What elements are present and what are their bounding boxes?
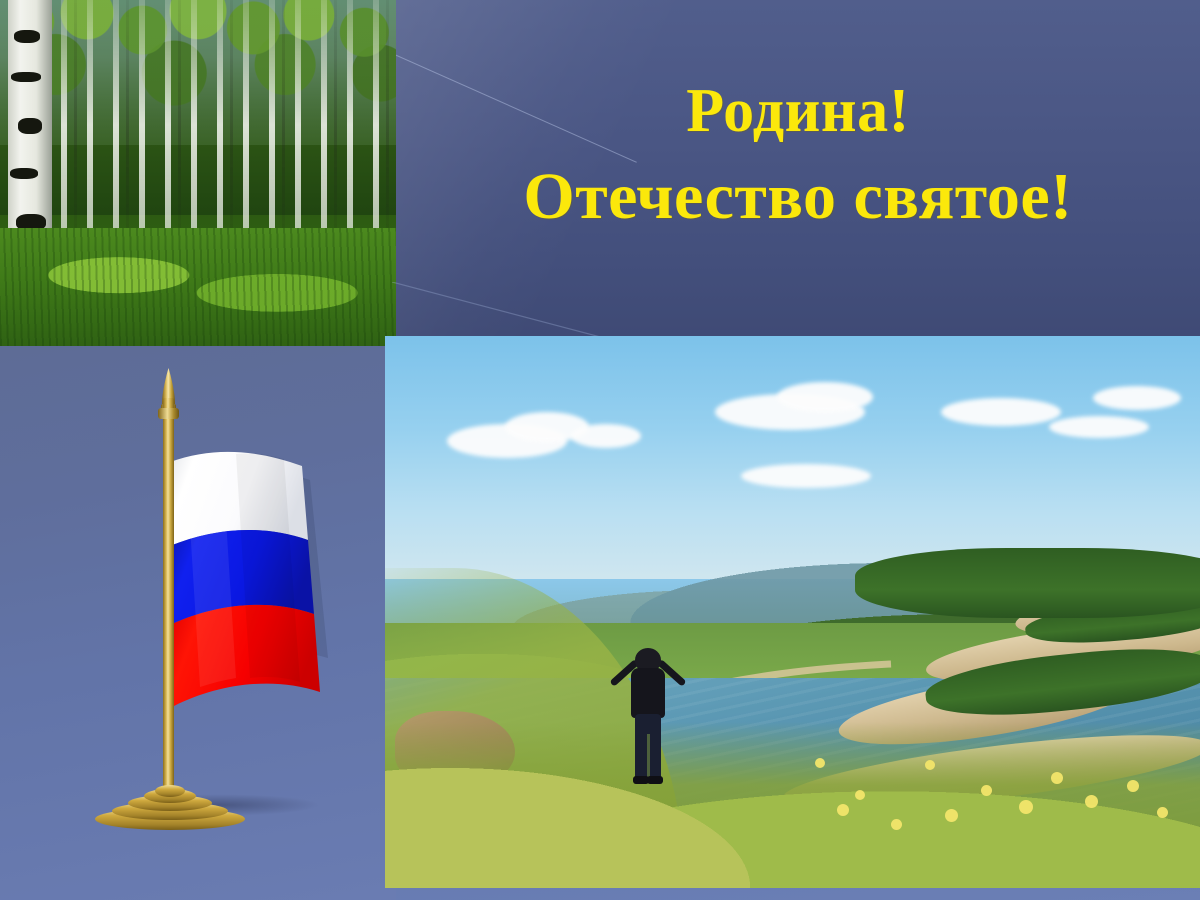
wildflower	[1085, 795, 1098, 808]
person-torso	[631, 668, 665, 718]
wildflower	[855, 790, 865, 800]
person-shoe	[647, 776, 663, 784]
cloud	[941, 398, 1061, 426]
wildflower	[815, 758, 825, 768]
far-bank-forest	[855, 548, 1200, 618]
river-landscape-photo	[385, 336, 1200, 888]
wildflower	[1019, 800, 1033, 814]
wildflower	[1157, 807, 1168, 818]
wildflower	[925, 760, 935, 770]
flagpole-collar	[158, 408, 179, 419]
flag-stand-base	[95, 786, 245, 830]
forest-ground-cover	[0, 228, 396, 346]
cloud	[1049, 416, 1149, 438]
title-line-2: Отечество святое!	[396, 154, 1200, 240]
foreground-grass	[385, 722, 1200, 888]
wildflower	[945, 809, 958, 822]
page-title: Родина! Отечество святое!	[396, 68, 1200, 240]
wildflower	[891, 819, 902, 830]
wildflower	[981, 785, 992, 796]
wildflower	[1051, 772, 1063, 784]
wildflower	[1127, 780, 1139, 792]
person-leg-gap	[647, 734, 650, 780]
title-line-1: Родина!	[396, 68, 1200, 154]
cloud	[741, 464, 871, 488]
russian-flag-photo	[0, 346, 396, 900]
cloud	[777, 382, 873, 412]
title-panel: Родина! Отечество святое!	[396, 0, 1200, 336]
cloud	[1093, 386, 1181, 410]
flagpole	[163, 398, 174, 804]
birch-forest-photo	[0, 0, 396, 346]
wildflower	[837, 804, 849, 816]
presentation-slide: Родина! Отечество святое!	[0, 0, 1200, 900]
cloud	[571, 424, 641, 448]
